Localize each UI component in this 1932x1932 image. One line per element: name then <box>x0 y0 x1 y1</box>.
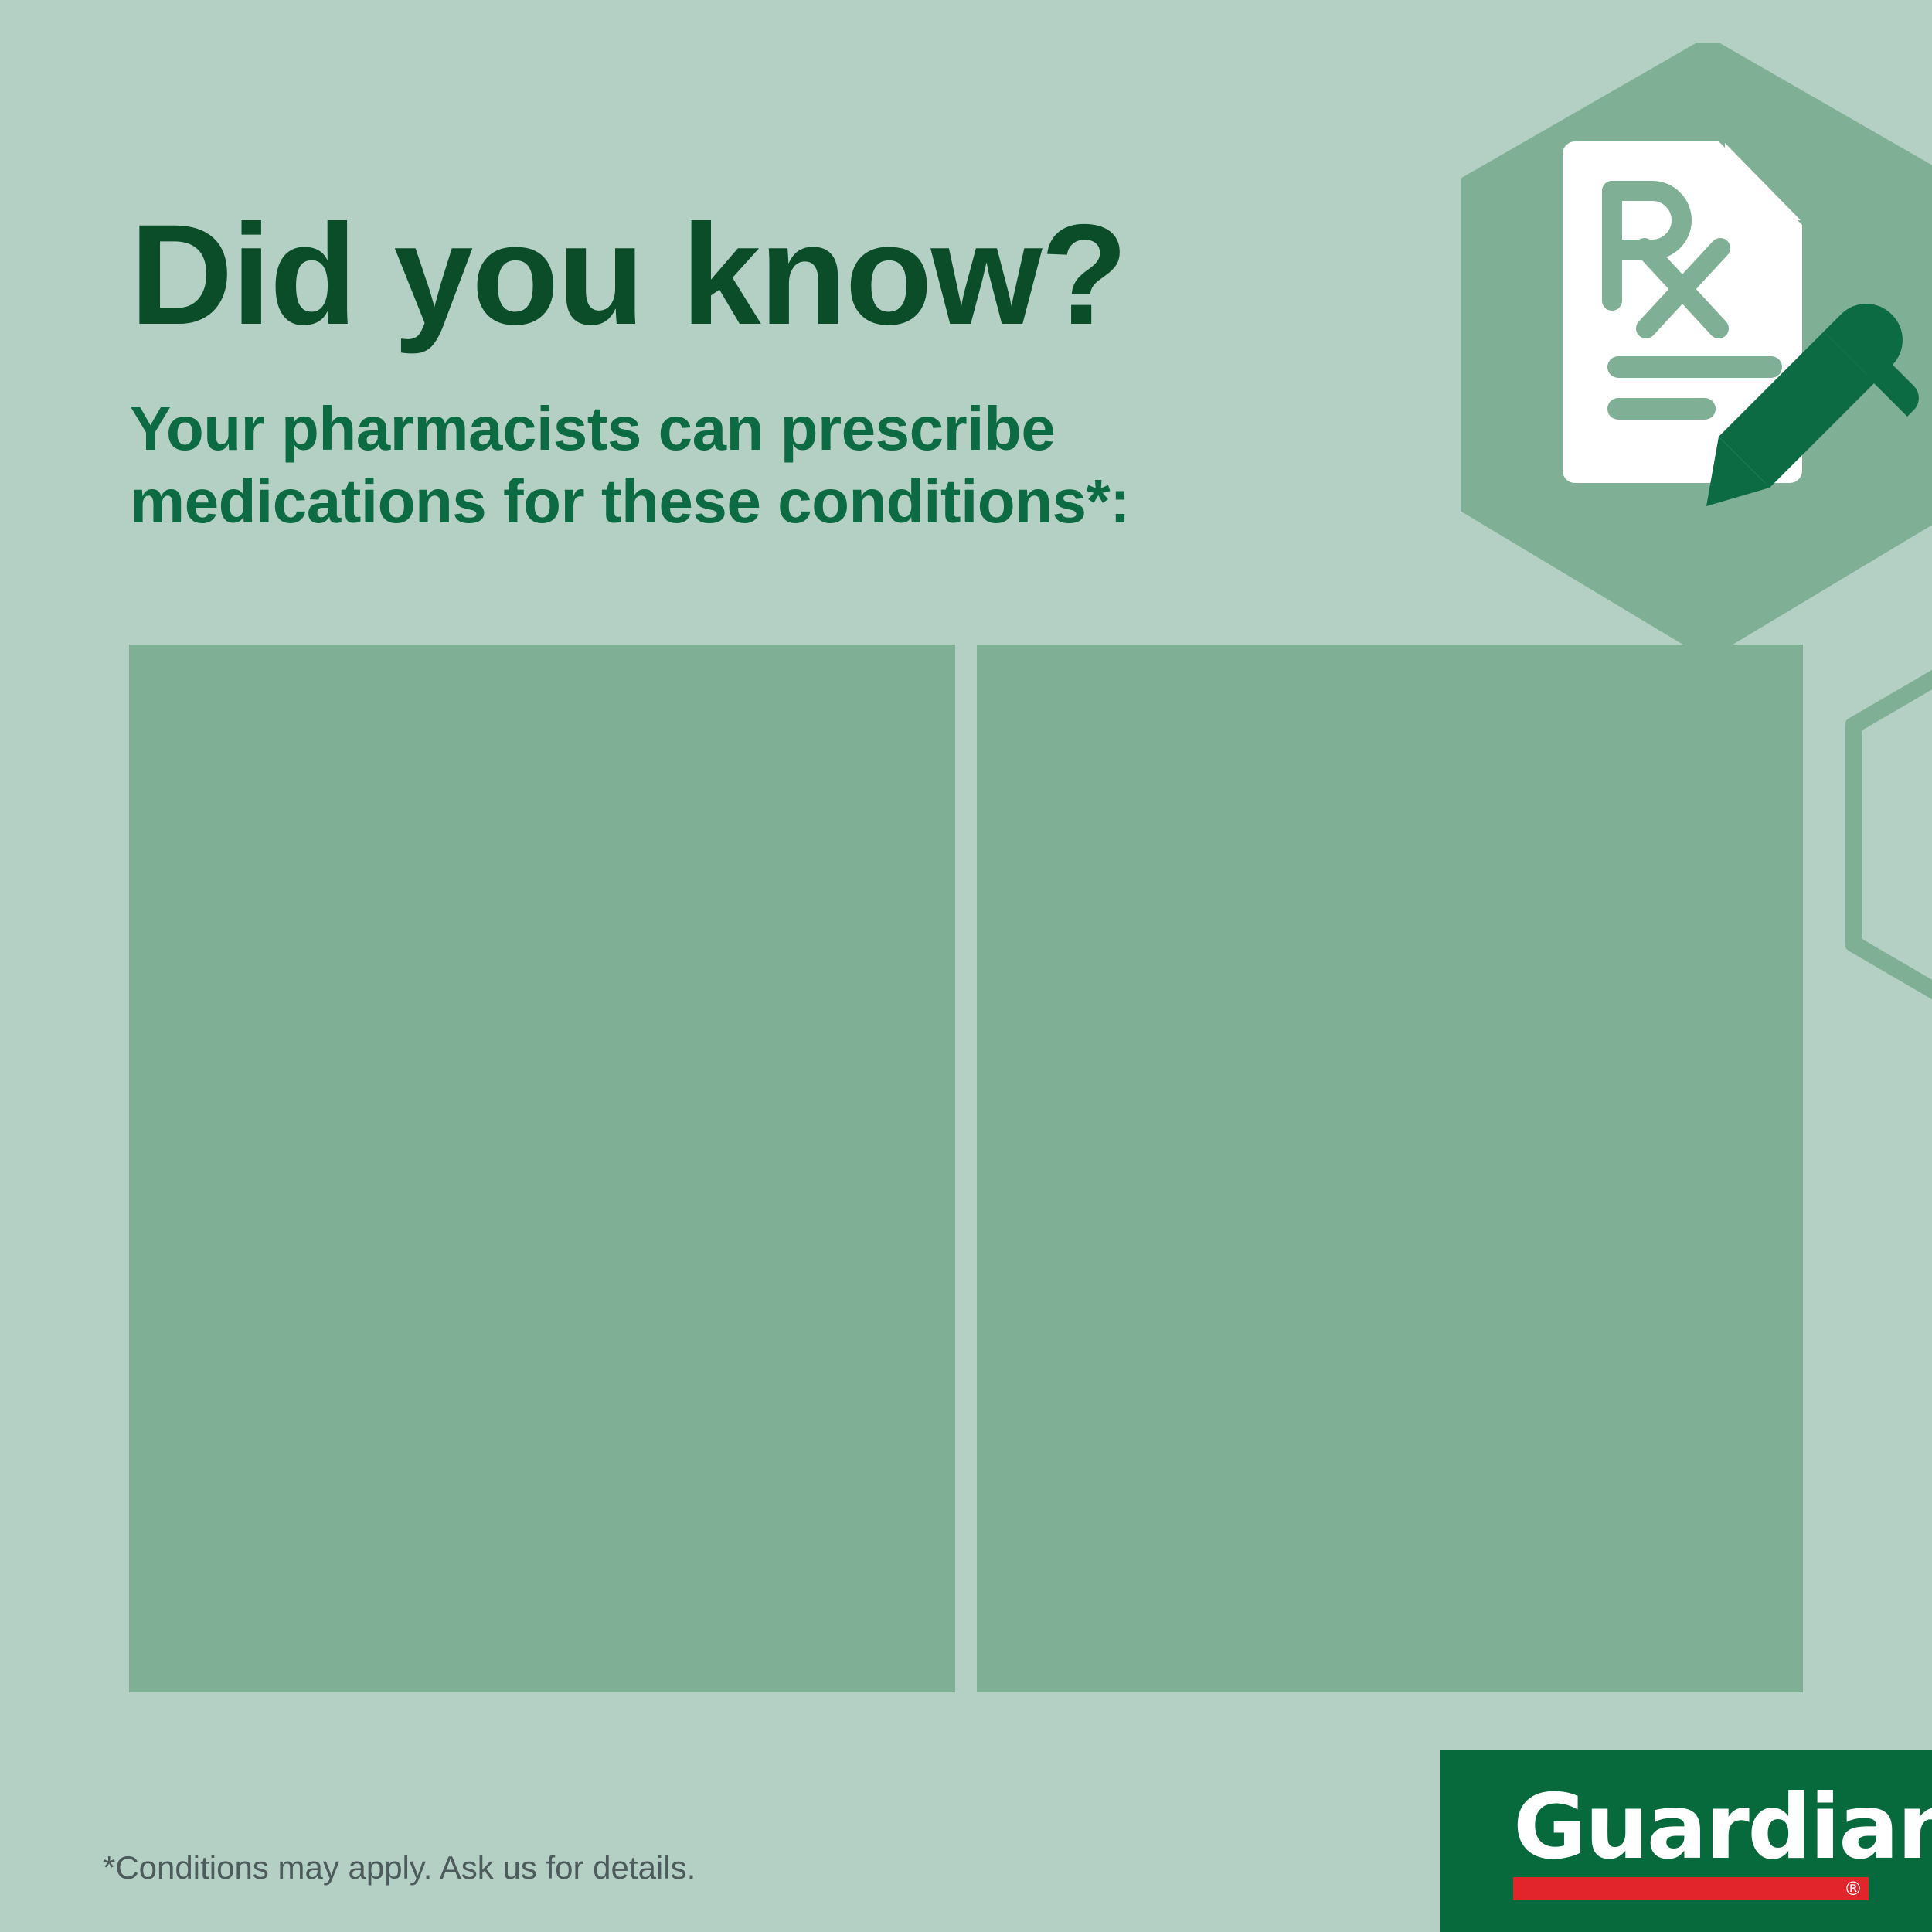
subtitle: Your pharmacists can prescribe medicatio… <box>130 393 1304 537</box>
brand-wordmark: Guardian <box>1513 1787 1869 1869</box>
hexagon-outline-shape <box>1824 603 1932 1036</box>
subtitle-line-1: Your pharmacists can prescribe <box>130 394 1055 463</box>
pen-icon <box>1706 304 1919 506</box>
page-title: Did you know? <box>130 204 1366 347</box>
registered-trademark-icon: ® <box>1844 1878 1862 1900</box>
subtitle-line-2: medications for these conditions*: <box>130 467 1130 536</box>
rx-prescription-document-icon <box>1563 141 1802 505</box>
hexagon-filled-shape <box>1461 43 1932 653</box>
brand-red-rule: ® <box>1513 1877 1869 1900</box>
guardian-logo: Guardian ® <box>1440 1750 1932 1932</box>
conditions-panel-right <box>977 645 1803 1692</box>
disclaimer-footnote: *Conditions may apply. Ask us for detail… <box>103 1849 696 1887</box>
promotional-poster: Did you know? Your pharmacists can presc… <box>0 0 1932 1932</box>
conditions-panel-left <box>129 645 955 1692</box>
brand-lockup: Guardian ® <box>1513 1787 1869 1900</box>
conditions-panel-group <box>129 645 1803 1692</box>
